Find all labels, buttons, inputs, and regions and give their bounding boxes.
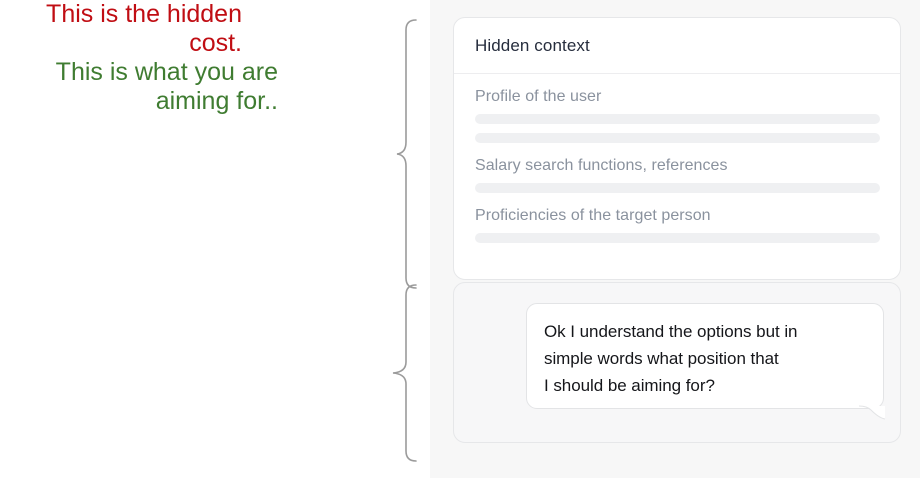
context-section-label: Proficiencies of the target person (475, 207, 880, 225)
skeleton-bar (475, 114, 880, 124)
chat-bubble-tail-icon (859, 406, 885, 420)
context-section-label: Profile of the user (475, 88, 880, 106)
brace-bottom-icon (384, 283, 418, 463)
skeleton-bar (475, 133, 880, 143)
annotation-hidden-cost: This is the hidden cost. (0, 0, 260, 58)
chat-message-bubble: Ok I understand the options but in simpl… (526, 303, 884, 409)
chat-message-text: Ok I understand the options but in simpl… (544, 318, 870, 399)
hidden-context-header: Hidden context (454, 18, 900, 74)
hidden-context-card: Hidden context Profile of the user Salar… (453, 17, 901, 280)
brace-top-icon (388, 18, 418, 290)
context-section-profile: Profile of the user (475, 88, 880, 143)
skeleton-bar (475, 233, 880, 243)
hidden-context-body: Profile of the user Salary search functi… (454, 74, 900, 243)
annotation-aiming-for: This is what you are aiming for.. (0, 58, 300, 116)
screenshot-root: This is the hidden cost. This is what yo… (0, 0, 920, 478)
context-section-salary: Salary search functions, references (475, 157, 880, 193)
skeleton-bar (475, 183, 880, 193)
context-section-label: Salary search functions, references (475, 157, 880, 175)
context-section-proficiencies: Proficiencies of the target person (475, 207, 880, 243)
hidden-context-title: Hidden context (475, 36, 590, 56)
